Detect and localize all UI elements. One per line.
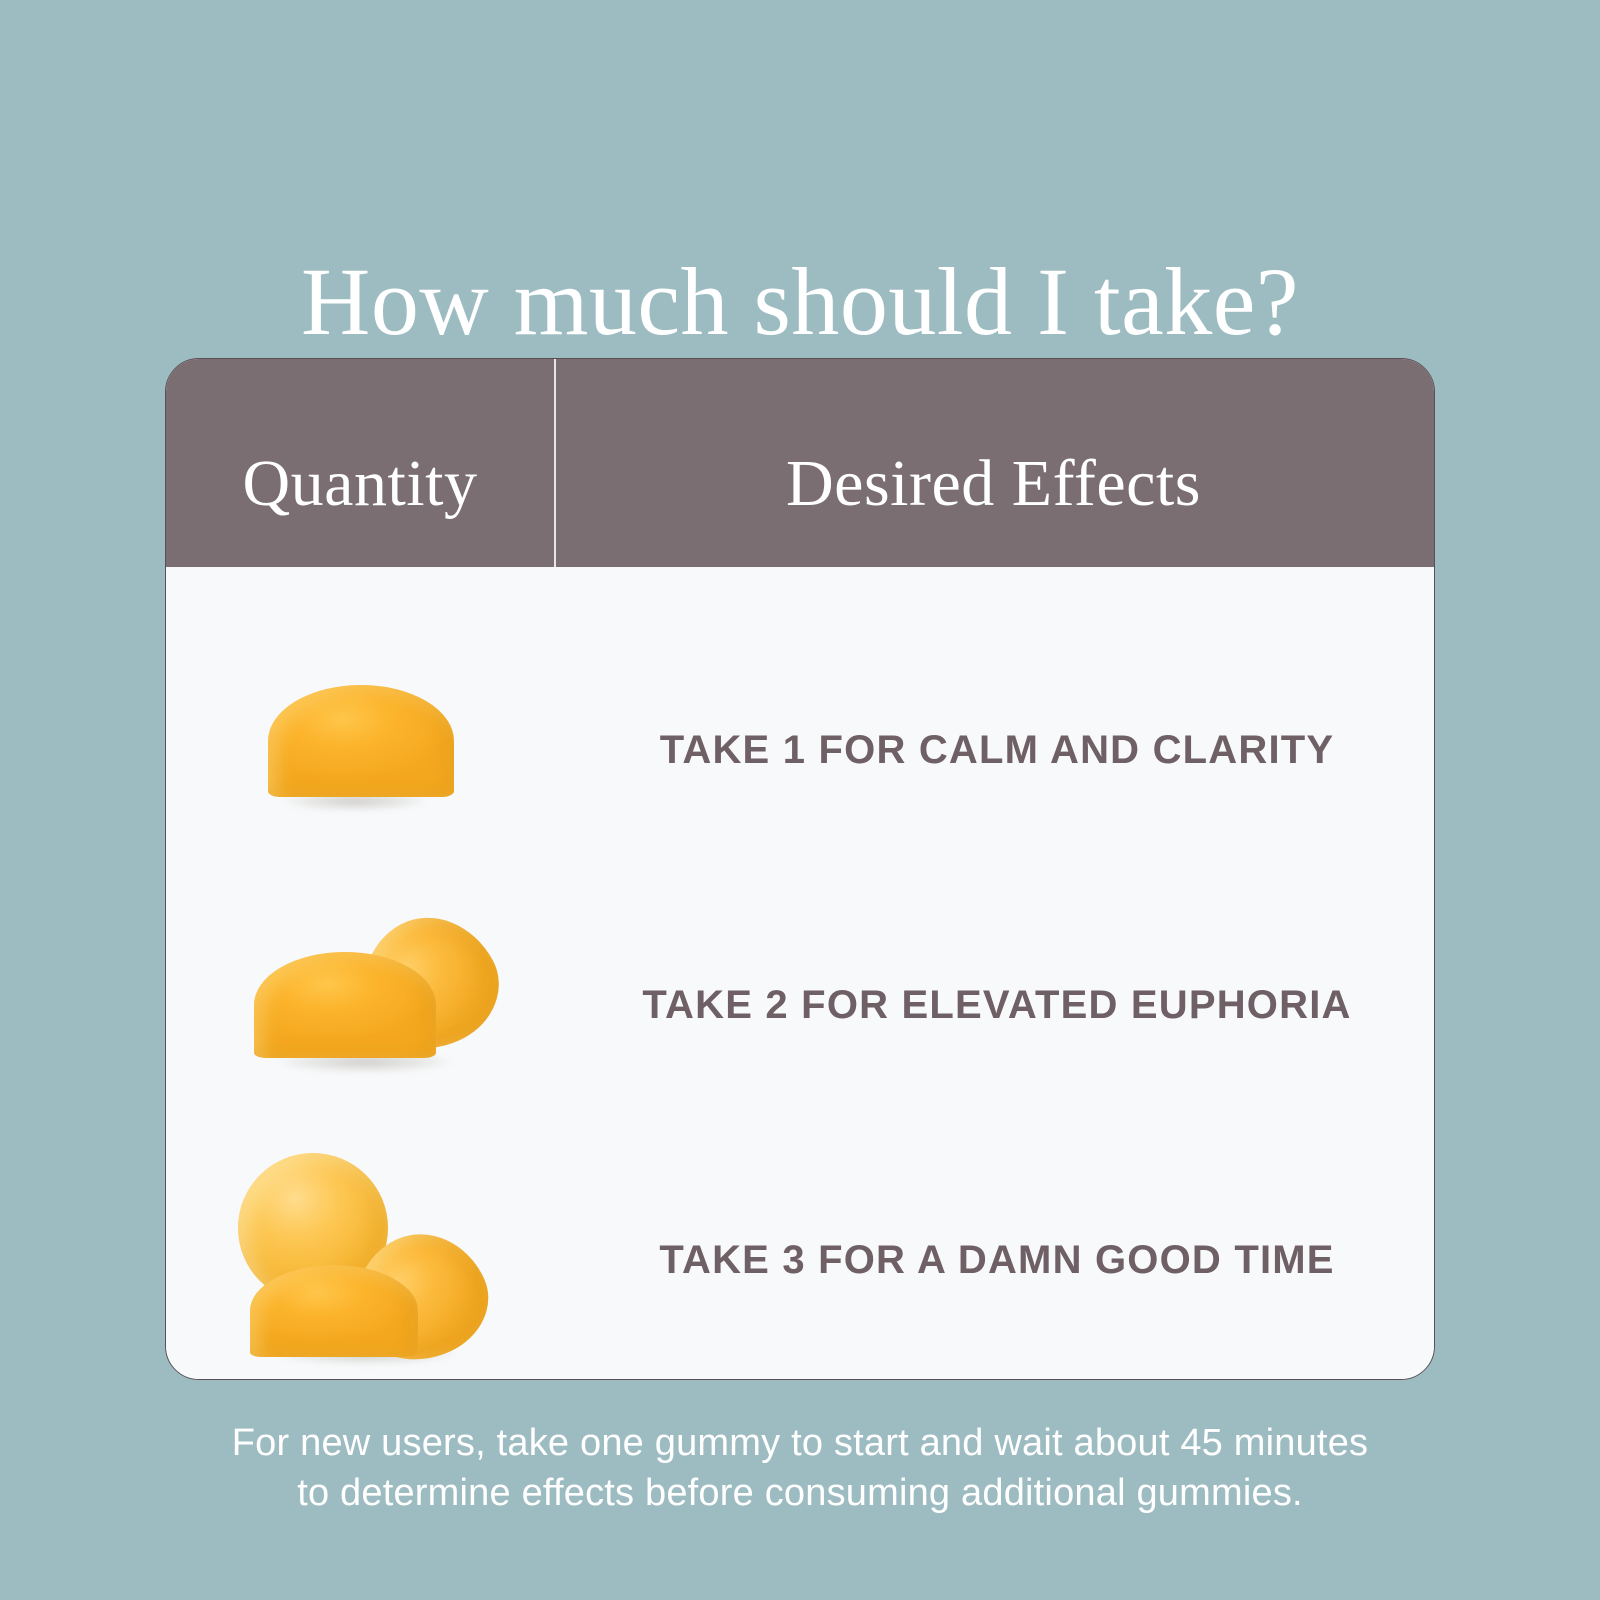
table-row: TAKE 1 FOR CALM AND CLARITY [166, 625, 1434, 875]
table-header-row: Quantity Desired Effects [166, 359, 1434, 567]
dosage-table-card: Quantity Desired Effects TAKE 1 FOR CALM… [165, 358, 1435, 1380]
gummy-dome [254, 952, 436, 1058]
one-gummy-icon [166, 625, 554, 875]
gummy-dome [250, 1265, 418, 1357]
table-body: TAKE 1 FOR CALM AND CLARITY TAKE 2 FOR E… [166, 567, 1434, 1379]
effect-cell: TAKE 3 FOR A DAMN GOOD TIME [554, 1135, 1434, 1380]
three-gummies-icon [166, 1135, 554, 1380]
header-column-divider [554, 359, 556, 567]
footer-note: For new users, take one gummy to start a… [150, 1418, 1450, 1518]
page-title: How much should I take? [0, 247, 1600, 357]
two-gummies-icon [166, 880, 554, 1130]
quantity-cell [166, 625, 554, 875]
effect-label: TAKE 1 FOR CALM AND CLARITY [660, 726, 1335, 774]
effect-cell: TAKE 1 FOR CALM AND CLARITY [554, 625, 1434, 875]
quantity-cell [166, 880, 554, 1130]
effect-label: TAKE 3 FOR A DAMN GOOD TIME [659, 1236, 1334, 1284]
gummy-dome [268, 685, 454, 797]
table-row: TAKE 3 FOR A DAMN GOOD TIME [166, 1135, 1434, 1380]
column-header-quantity-label: Quantity [243, 447, 478, 521]
column-header-effects-label: Desired Effects [786, 447, 1201, 521]
effect-label: TAKE 2 FOR ELEVATED EUPHORIA [642, 981, 1351, 1029]
column-header-effects: Desired Effects [554, 359, 1433, 567]
column-header-quantity: Quantity [166, 359, 554, 567]
effect-cell: TAKE 2 FOR ELEVATED EUPHORIA [554, 880, 1434, 1130]
footer-line-2: to determine effects before consuming ad… [150, 1468, 1450, 1518]
quantity-cell [166, 1135, 554, 1380]
dosage-infographic: How much should I take? Quantity Desired… [0, 0, 1600, 1600]
table-row: TAKE 2 FOR ELEVATED EUPHORIA [166, 880, 1434, 1130]
footer-line-1: For new users, take one gummy to start a… [150, 1418, 1450, 1468]
